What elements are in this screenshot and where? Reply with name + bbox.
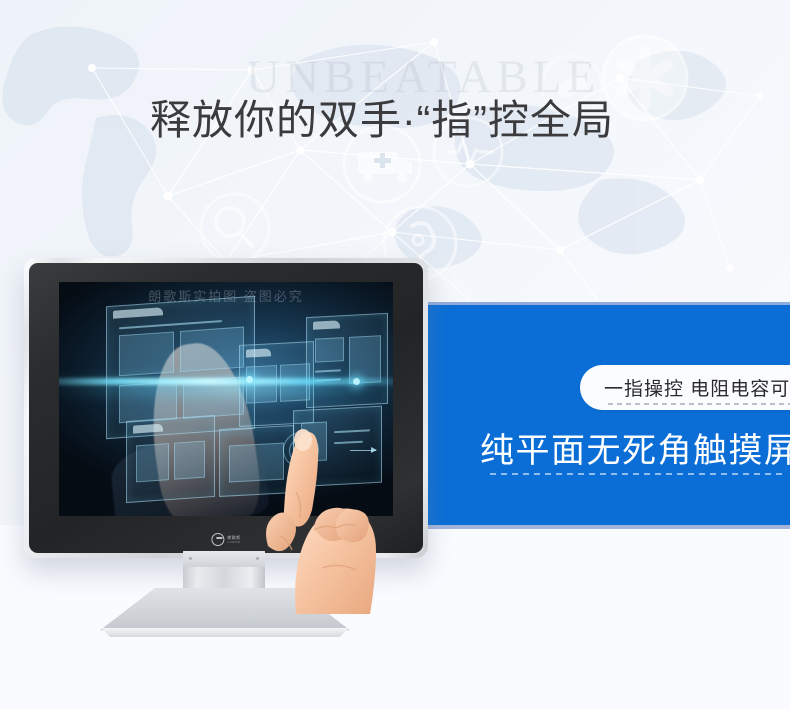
screen-glow-dot (246, 376, 253, 383)
holo-bar (315, 369, 341, 372)
screen-glow-dot (353, 378, 360, 385)
holo-block (174, 440, 206, 479)
badge-underline-rule (608, 403, 790, 405)
monitor-base-lip (100, 628, 350, 637)
screen-light-streak (59, 378, 393, 385)
holo-pane-bottom-left (126, 415, 215, 503)
feature-badge: 一指操控 电阻电容可选 (580, 365, 790, 410)
holo-block (180, 326, 244, 372)
feature-badge-label: 一指操控 电阻电容可选 (580, 374, 790, 401)
brand-name-cn: 朗歌斯 (227, 536, 240, 540)
magnifier-badge-icon (201, 194, 269, 262)
promo-banner: UNBEATABLE 释放你的双手·“指”控全局 一指操控 电阻电容可选 纯平面… (0, 0, 790, 709)
holo-block (315, 337, 344, 362)
brand-logo-text: 朗歌斯 LONGSI (227, 536, 240, 544)
hand-thumb (266, 512, 296, 551)
pointing-hand-illustration (252, 418, 398, 616)
holo-pane-tab (113, 307, 163, 318)
holo-bar (119, 320, 222, 329)
holo-block (135, 443, 168, 482)
holo-pane-tab (246, 348, 271, 357)
screen-watermark-text: 朗歌斯实拍图 盗图必究 (148, 286, 304, 305)
promo-heading-rule (490, 473, 784, 475)
brand-mark-icon (211, 533, 224, 546)
asterisk-badge-icon (603, 36, 687, 120)
brand-logo: 朗歌斯 LONGSI (211, 533, 240, 546)
neck-screw (189, 557, 192, 560)
brand-name-en: LONGSI (227, 541, 240, 544)
promo-panel: 一指操控 电阻电容可选 纯平面无死角触摸屏幕 (408, 305, 790, 525)
page-title: 释放你的双手·“指”控全局 (150, 96, 614, 144)
fingertip (294, 429, 312, 451)
holo-pane-tab (133, 423, 163, 433)
holo-pane-tab (313, 320, 340, 329)
holo-block (119, 331, 174, 376)
promo-heading: 纯平面无死角触摸屏幕 (480, 423, 790, 472)
